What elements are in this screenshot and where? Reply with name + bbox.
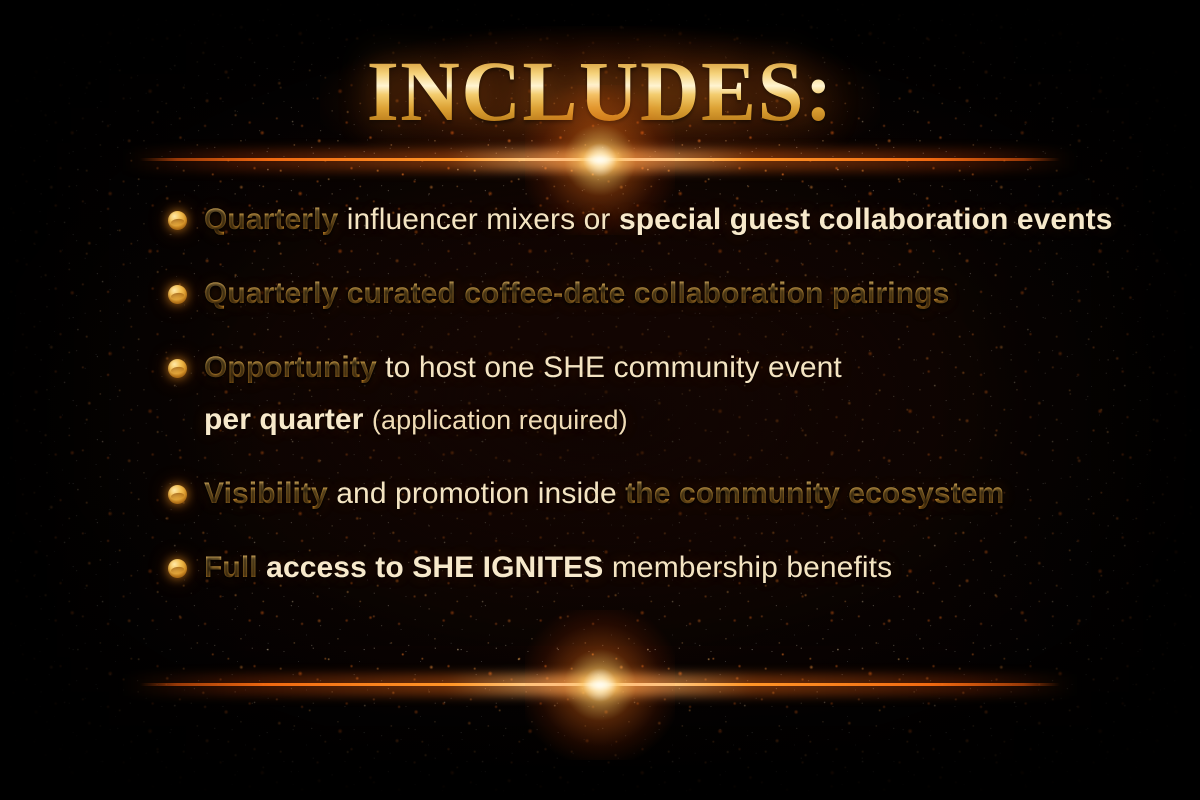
text-segment: Opportunity	[204, 351, 385, 384]
text-segment: influencer mixers or	[347, 203, 619, 236]
bullet-sphere-icon	[168, 211, 187, 230]
text-segment: access to SHE IGNITES	[266, 551, 612, 584]
list-item-text: Quarterly curated coffee-date collaborat…	[204, 274, 949, 314]
list-item-text: Visibility and promotion inside the comm…	[204, 474, 1004, 514]
list-item: Quarterly curated coffee-date collaborat…	[168, 274, 1168, 314]
top-divider-glow	[120, 149, 1080, 171]
bottom-divider	[0, 655, 1200, 715]
text-segment: special guest collaboration events	[619, 203, 1113, 236]
page-title: INCLUDES:	[366, 48, 833, 136]
text-segment: and promotion inside	[336, 477, 625, 510]
list-item: Full access to SHE IGNITES membership be…	[168, 548, 1168, 588]
bottom-divider-glow	[120, 674, 1080, 696]
list-item-continuation: per quarter (application required)	[168, 400, 1168, 440]
text-segment: Full	[204, 551, 266, 584]
includes-list: Quarterly influencer mixers or special g…	[168, 200, 1168, 622]
text-segment: (application required)	[372, 405, 628, 435]
text-segment: Quarterly curated coffee-date collaborat…	[204, 277, 949, 310]
bullet-sphere-icon	[168, 485, 187, 504]
bottom-divider-beam	[140, 683, 1060, 686]
top-divider-beam	[140, 158, 1060, 161]
list-item-text: Full access to SHE IGNITES membership be…	[204, 548, 892, 588]
bottom-divider-flare-hotspot	[580, 677, 620, 693]
top-divider-flare-hotspot	[580, 152, 620, 168]
list-item: Opportunity to host one SHE community ev…	[168, 348, 1168, 388]
list-item-text: Quarterly influencer mixers or special g…	[204, 200, 1113, 240]
text-segment: to host one SHE community event	[385, 351, 842, 384]
includes-slide: INCLUDES: Quarterly influencer mixers or…	[0, 0, 1200, 800]
title-block: INCLUDES:	[0, 48, 1200, 136]
list-item-text: Opportunity to host one SHE community ev…	[204, 348, 842, 388]
list-item-text: per quarter (application required)	[204, 400, 628, 440]
bullet-sphere-icon	[168, 559, 187, 578]
list-item: Visibility and promotion inside the comm…	[168, 474, 1168, 514]
bullet-sphere-icon	[168, 285, 187, 304]
list-item: Quarterly influencer mixers or special g…	[168, 200, 1168, 240]
bullet-sphere-icon	[168, 359, 187, 378]
text-segment: the community ecosystem	[625, 477, 1004, 510]
text-segment: membership benefits	[612, 551, 892, 584]
text-segment: per quarter	[204, 403, 372, 436]
text-segment: Quarterly	[204, 203, 347, 236]
text-segment: Visibility	[204, 477, 336, 510]
